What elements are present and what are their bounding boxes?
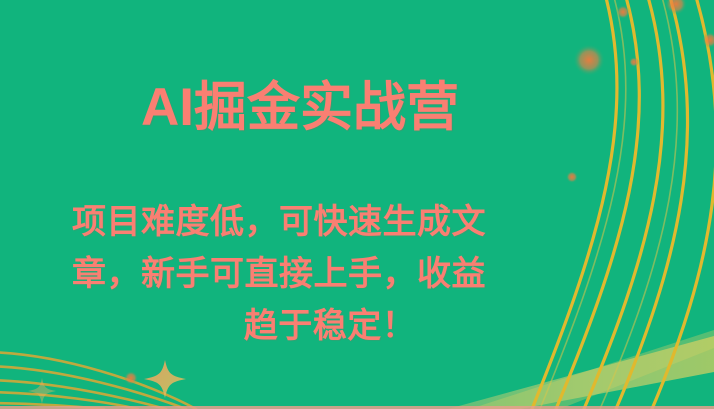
- page-title: AI掘金实战营: [0, 78, 600, 138]
- subtitle-line-2: 章，新手可直接上手，收益: [72, 248, 588, 300]
- subtitle-line-1: 项目难度低，可快速生成文: [72, 196, 588, 248]
- subtitle-line-3: 趋于稳定！: [72, 300, 588, 352]
- promo-poster: AI掘金实战营 项目难度低，可快速生成文 章，新手可直接上手，收益 趋于稳定！: [0, 0, 714, 409]
- text-layer: AI掘金实战营 项目难度低，可快速生成文 章，新手可直接上手，收益 趋于稳定！: [0, 0, 714, 409]
- subtitle-block: 项目难度低，可快速生成文 章，新手可直接上手，收益 趋于稳定！: [72, 196, 588, 352]
